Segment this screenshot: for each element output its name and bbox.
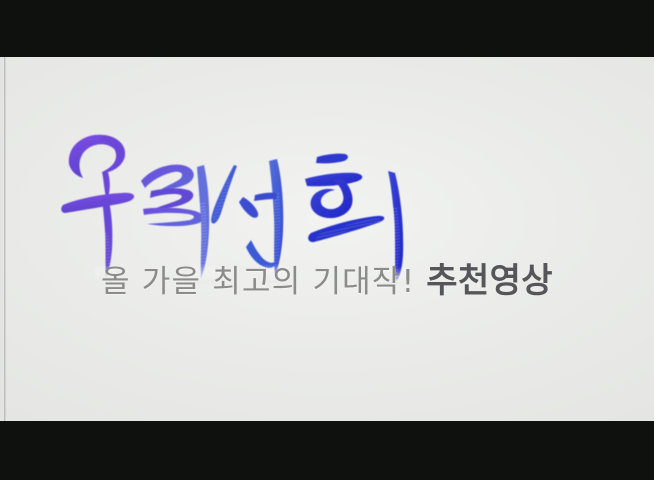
glyph-u <box>61 135 134 281</box>
video-frame: 올 가을 최고의 기대작! 추천영상 <box>0 0 654 480</box>
letterbox-bar-top <box>0 0 654 57</box>
title-brush-svg <box>55 121 435 286</box>
left-edge-fill <box>0 57 3 421</box>
left-edge-scanline <box>4 57 6 421</box>
letterbox-bar-bottom <box>0 421 654 480</box>
subtitle-recommended-badge: 추천영상 <box>426 264 553 298</box>
subtitle-line: 올 가을 최고의 기대작! 추천영상 <box>0 264 654 326</box>
video-picture-area: 올 가을 최고의 기대작! 추천영상 <box>0 57 654 421</box>
subtitle-tagline: 올 가을 최고의 기대작! <box>101 267 415 298</box>
movie-title-calligraphy <box>55 121 435 286</box>
